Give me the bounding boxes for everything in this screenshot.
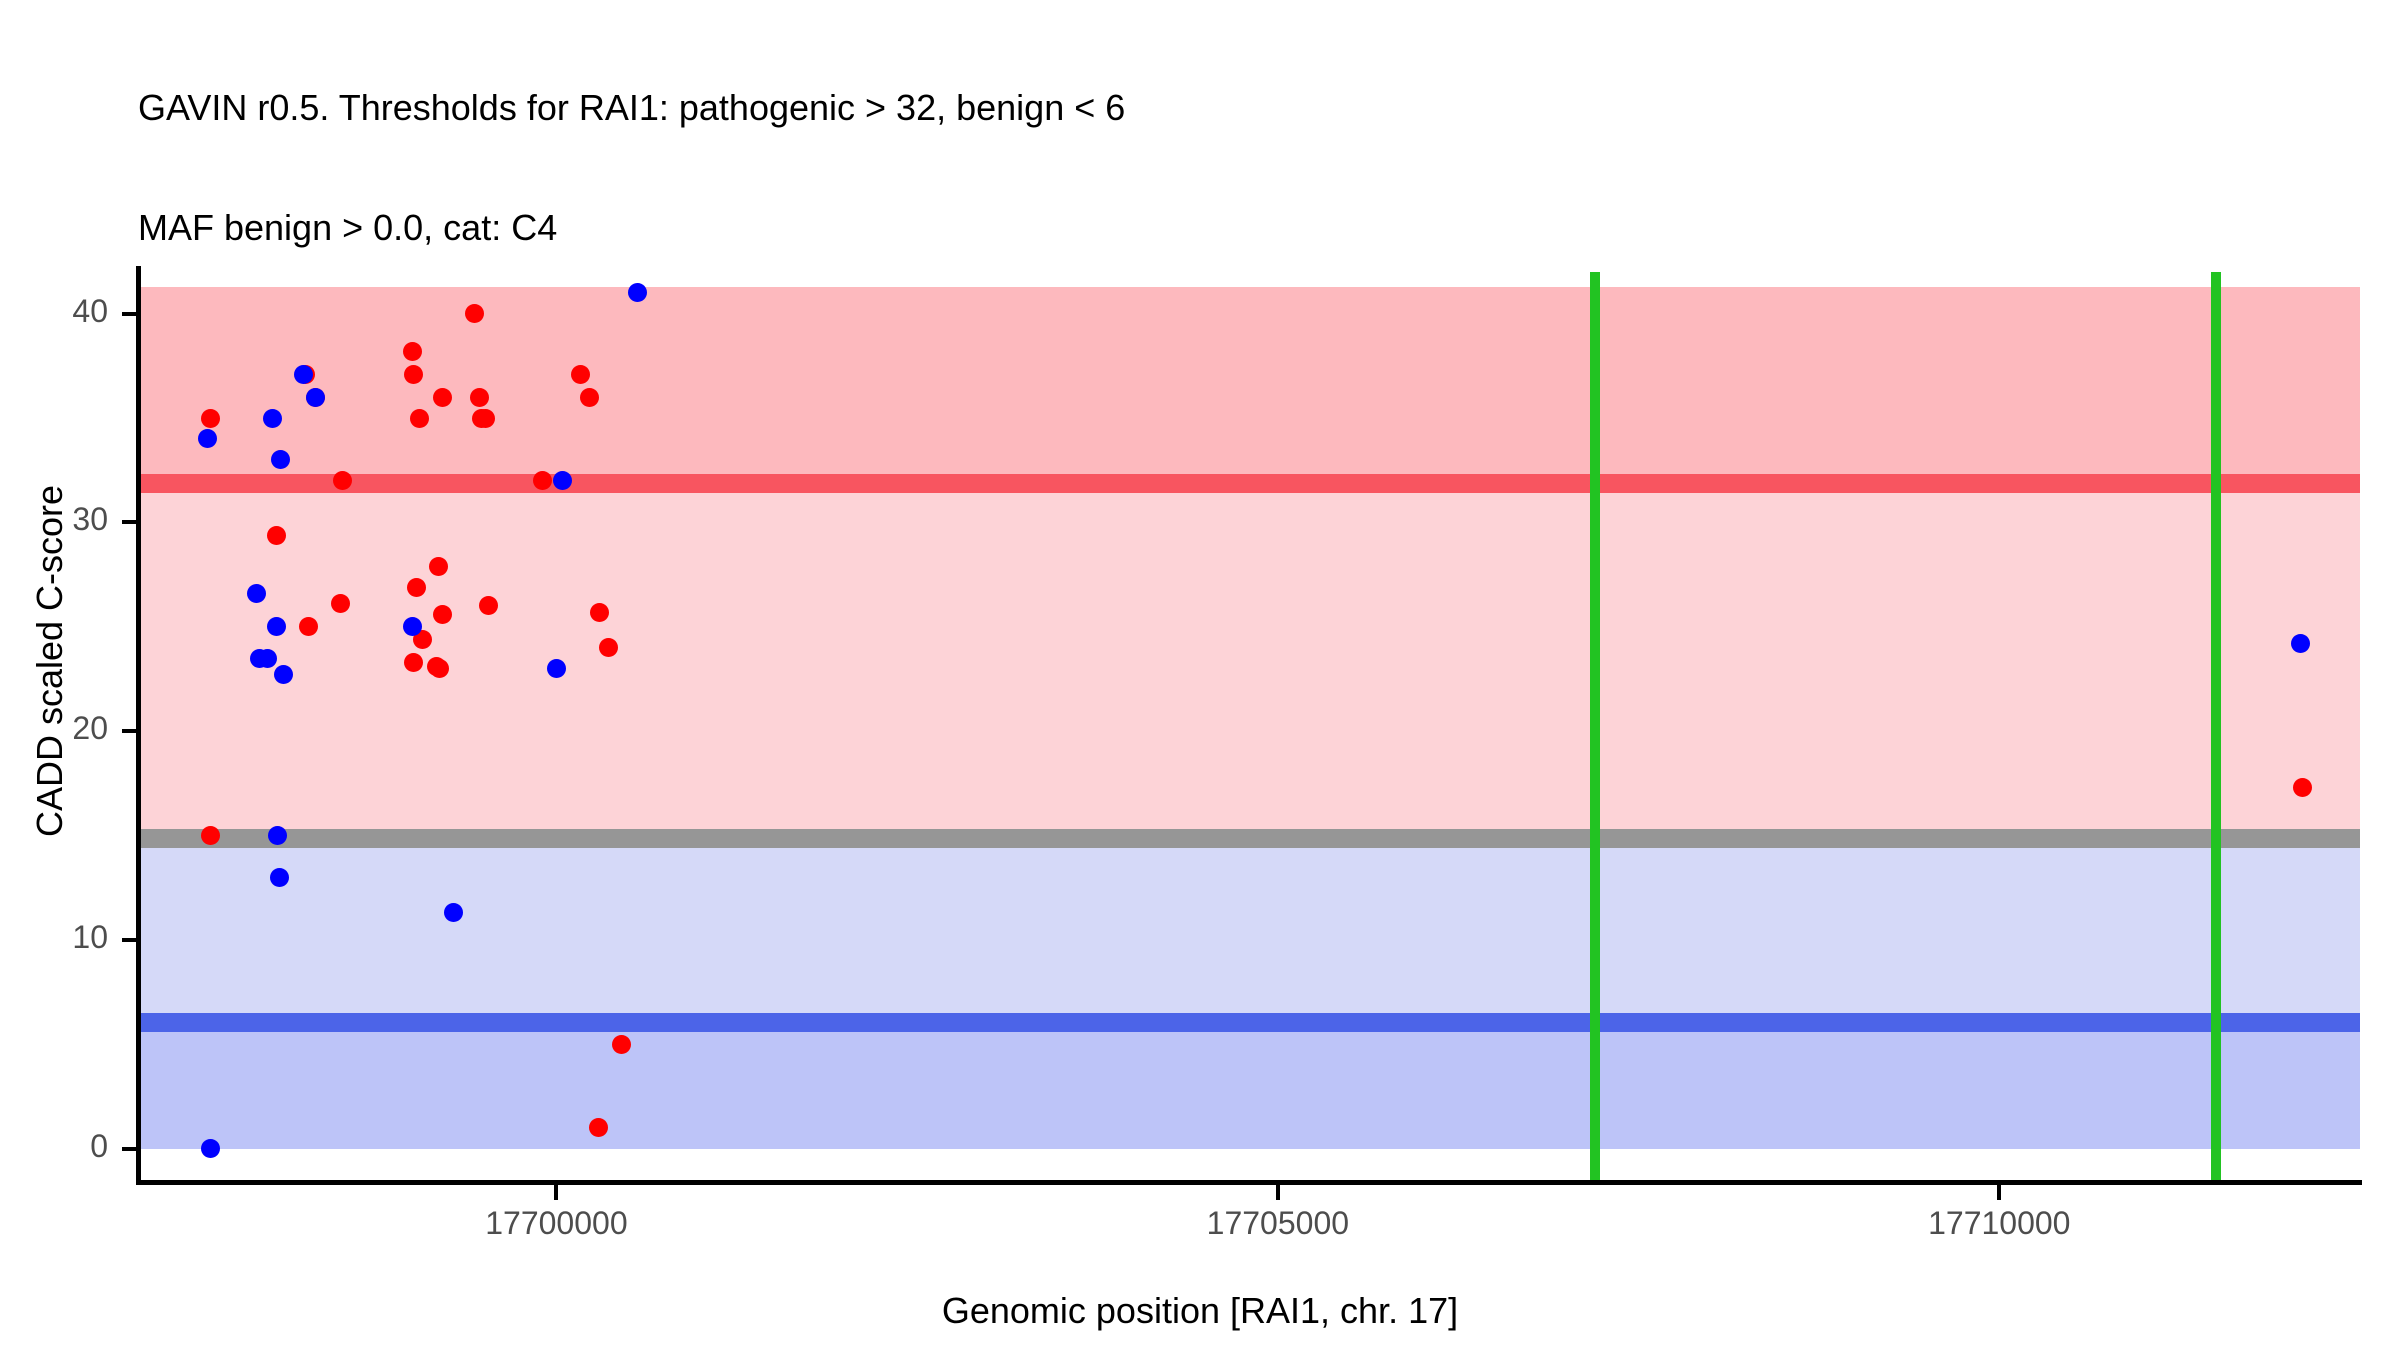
pathogenic-point bbox=[404, 653, 423, 672]
pathogenic-point bbox=[590, 603, 609, 622]
pathogenic-point bbox=[599, 638, 618, 657]
pathogenic-point bbox=[404, 365, 423, 384]
gnomad-point bbox=[628, 283, 647, 302]
band-benign-upper-zone bbox=[138, 848, 2360, 1023]
y-tick-30 bbox=[122, 520, 136, 524]
x-tick-label-17700000: 17700000 bbox=[485, 1205, 627, 1242]
gnomad-point bbox=[258, 649, 277, 668]
pathogenic-point bbox=[403, 342, 422, 361]
pathogenic-point bbox=[410, 409, 429, 428]
band-pathogenic-threshold-line bbox=[138, 474, 2360, 493]
gnomad-point bbox=[247, 584, 266, 603]
title-line-2: MAF benign > 0.0, cat: C4 bbox=[138, 208, 1284, 248]
pathogenic-point bbox=[476, 409, 495, 428]
pathogenic-point bbox=[533, 471, 552, 490]
x-tick-17705000 bbox=[1276, 1185, 1280, 1200]
plot-panel bbox=[138, 272, 2360, 1180]
x-axis-title: Genomic position [RAI1, chr. 17] bbox=[0, 1290, 2400, 1332]
x-axis-line bbox=[136, 1180, 2362, 1185]
band-benign-zone bbox=[138, 1032, 2360, 1149]
y-axis-title: CADD scaled C-score bbox=[29, 281, 71, 1041]
pathogenic-point bbox=[433, 605, 452, 624]
pathogenic-point bbox=[612, 1035, 631, 1054]
gnomad-point bbox=[263, 409, 282, 428]
y-tick-label-10: 10 bbox=[72, 919, 108, 956]
gnomad-point bbox=[306, 388, 325, 407]
y-tick-0 bbox=[122, 1147, 136, 1151]
x-tick-label-17705000: 17705000 bbox=[1207, 1205, 1349, 1242]
pathogenic-point bbox=[589, 1118, 608, 1137]
pathogenic-point bbox=[433, 388, 452, 407]
gnomad-point bbox=[403, 617, 422, 636]
gnomad-point bbox=[553, 471, 572, 490]
pathogenic-point bbox=[299, 617, 318, 636]
x-tick-label-17710000: 17710000 bbox=[1928, 1205, 2070, 1242]
y-tick-label-30: 30 bbox=[72, 501, 108, 538]
exon-line-2 bbox=[2211, 272, 2221, 1180]
y-tick-10 bbox=[122, 938, 136, 942]
y-tick-40 bbox=[122, 312, 136, 316]
pathogenic-point bbox=[201, 409, 220, 428]
pathogenic-point bbox=[331, 594, 350, 613]
pathogenic-point bbox=[267, 526, 286, 545]
pathogenic-point bbox=[407, 578, 426, 597]
gnomad-point bbox=[547, 659, 566, 678]
y-tick-label-20: 20 bbox=[72, 710, 108, 747]
pathogenic-point bbox=[201, 826, 220, 845]
gnomad-point bbox=[270, 868, 289, 887]
x-tick-17700000 bbox=[554, 1185, 558, 1200]
y-tick-label-40: 40 bbox=[72, 293, 108, 330]
y-tick-20 bbox=[122, 729, 136, 733]
y-axis-line bbox=[136, 266, 141, 1184]
band-vous-zone bbox=[138, 493, 2360, 835]
pathogenic-point bbox=[429, 557, 448, 576]
exon-line-1 bbox=[1590, 272, 1600, 1180]
band-fallback-threshold-line bbox=[138, 829, 2360, 848]
pathogenic-point bbox=[430, 659, 449, 678]
gnomad-point bbox=[201, 1139, 220, 1158]
band-benign-threshold-line bbox=[138, 1013, 2360, 1032]
x-tick-17710000 bbox=[1997, 1185, 2001, 1200]
title-line-1: GAVIN r0.5. Thresholds for RAI1: pathoge… bbox=[138, 88, 1284, 128]
pathogenic-point bbox=[465, 304, 484, 323]
y-tick-label-0: 0 bbox=[90, 1128, 108, 1165]
pathogenic-point bbox=[2293, 778, 2312, 797]
pathogenic-point bbox=[580, 388, 599, 407]
